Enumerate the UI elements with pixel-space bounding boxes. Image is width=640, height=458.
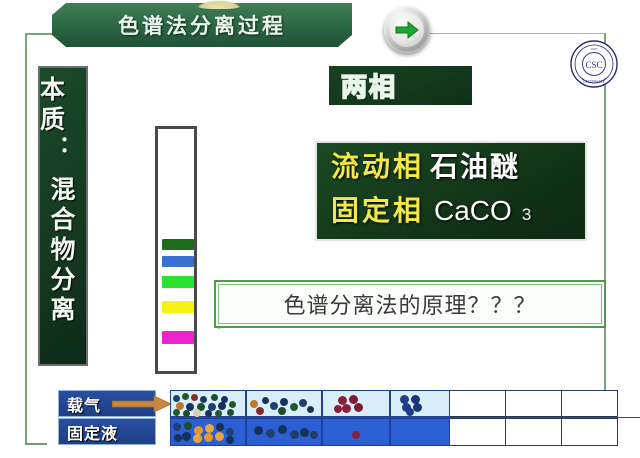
particle-dot [342,404,351,413]
particle-dot [218,402,226,410]
essence-char-4: 分 [50,265,75,295]
particle-dot [174,434,182,442]
essence-heading-char-1: 本质 [40,75,86,135]
particle-dot [262,397,269,404]
mobile-phase-label: 流动相 [331,145,424,189]
particle-dot [173,409,180,416]
essence-char-2: 合 [50,205,75,235]
cell-bot-4 [390,418,450,446]
liquid-phase-strip [170,418,598,446]
phases-box: 流动相 石油醚 固定相 CaCO3 [315,141,587,241]
frame-right-border [604,33,606,445]
particle-dot [280,398,288,406]
particle-dot [406,408,414,416]
svg-text:UNIVERSITY: UNIVERSITY [583,80,605,84]
particle-dot [307,406,314,413]
two-phase-box: 两相 [329,66,472,105]
particle-dot [182,432,191,441]
essence-char-1: 混 [50,175,75,205]
particle-dot [299,399,307,407]
particle-dot [184,422,192,430]
particle-dot [349,395,358,404]
yellow-band [162,301,194,313]
stationary-phase-label: 固定相 [331,189,424,233]
particle-dot [278,425,287,434]
phase-divider-line [170,417,640,418]
stationary-phase-row: 固定相 CaCO3 [331,189,585,237]
particle-dot [211,394,218,401]
particle-dot [254,426,263,435]
essence-char-3: 物 [50,235,75,265]
question-text: 色谱分离法的原理？？？ [214,280,606,328]
bottom-diagram: 载气 固定液 [58,390,598,452]
particle-dot [191,394,198,401]
university-seal-icon: CSC 1905 UNIVERSITY [568,38,620,90]
particle-dot [215,432,224,441]
two-phase-label: 两相 [341,67,397,104]
particle-dot [334,405,342,413]
particle-dot [229,401,236,408]
essence-colon: ： [59,135,81,155]
slide-canvas: 色谱法分离过程 CSC 1905 UNIVERSITY 本质 ： 混 合 物 分… [0,0,640,458]
particle-dot [193,434,202,443]
carrier-gas-label: 载气 [67,392,101,416]
essence-panel: 本质 ： 混 合 物 分 离 [38,66,88,366]
stationary-liquid-label-box: 固定液 [58,418,156,445]
particle-dot [226,428,234,436]
particle-dot [173,423,181,431]
particle-dot [270,402,278,410]
particle-dot [193,409,201,417]
cell-bot-7 [562,418,618,446]
particle-dot [173,395,180,402]
banner-notch-ornament [196,0,242,9]
particle-dot [216,423,224,431]
blue-band [162,256,194,267]
particle-dot [182,393,189,400]
arrow-right-icon [395,20,419,40]
slide-title-banner: 色谱法分离过程 [52,3,352,47]
gas-phase-strip [170,390,598,417]
stationary-phase-subscript: 3 [522,193,531,237]
svg-text:CSC: CSC [585,60,602,70]
particle-dot [352,431,360,439]
frame-left-border [25,33,27,445]
page-title: 色谱法分离过程 [118,10,286,40]
mobile-phase-value: 石油醚 [430,145,520,189]
particle-dot [227,409,234,416]
particle-dot [290,430,299,439]
particle-dot [200,396,207,403]
stationary-phase-formula: CaCO [434,189,512,233]
svg-text:1905: 1905 [591,47,598,51]
particle-dot [256,407,264,415]
frame-bottom-left-border [25,443,47,445]
particle-dot [183,410,190,417]
particle-dot [300,428,309,437]
magenta-band [162,331,194,344]
essence-char-5: 离 [50,295,75,325]
cell-bot-6 [506,418,562,446]
particle-dot [266,429,275,438]
particle-dot [290,403,298,411]
particle-dot [204,433,213,442]
dark-green-band [162,239,194,250]
cell-bot-5 [450,418,506,446]
cell-top-6 [506,390,562,417]
chromatography-column [155,126,197,374]
particle-dot [215,410,222,417]
orange-arrow-right-icon [112,395,172,413]
mobile-phase-row: 流动相 石油醚 [331,145,585,189]
bright-green-band [162,276,194,288]
particle-dot [278,407,286,415]
particle-dot [226,436,234,444]
frame-top-right-border [425,33,605,34]
question-box: 色谱分离法的原理？？？ [214,280,606,328]
particle-dot [205,424,214,433]
particle-dot [310,431,318,439]
cell-top-7 [562,390,618,417]
next-button-inner-bezel [390,13,424,47]
stationary-liquid-label: 固定液 [67,420,118,444]
particle-dot [205,410,212,417]
next-slide-button[interactable] [384,7,430,53]
cell-top-5 [450,390,506,417]
particle-dot [354,403,363,412]
